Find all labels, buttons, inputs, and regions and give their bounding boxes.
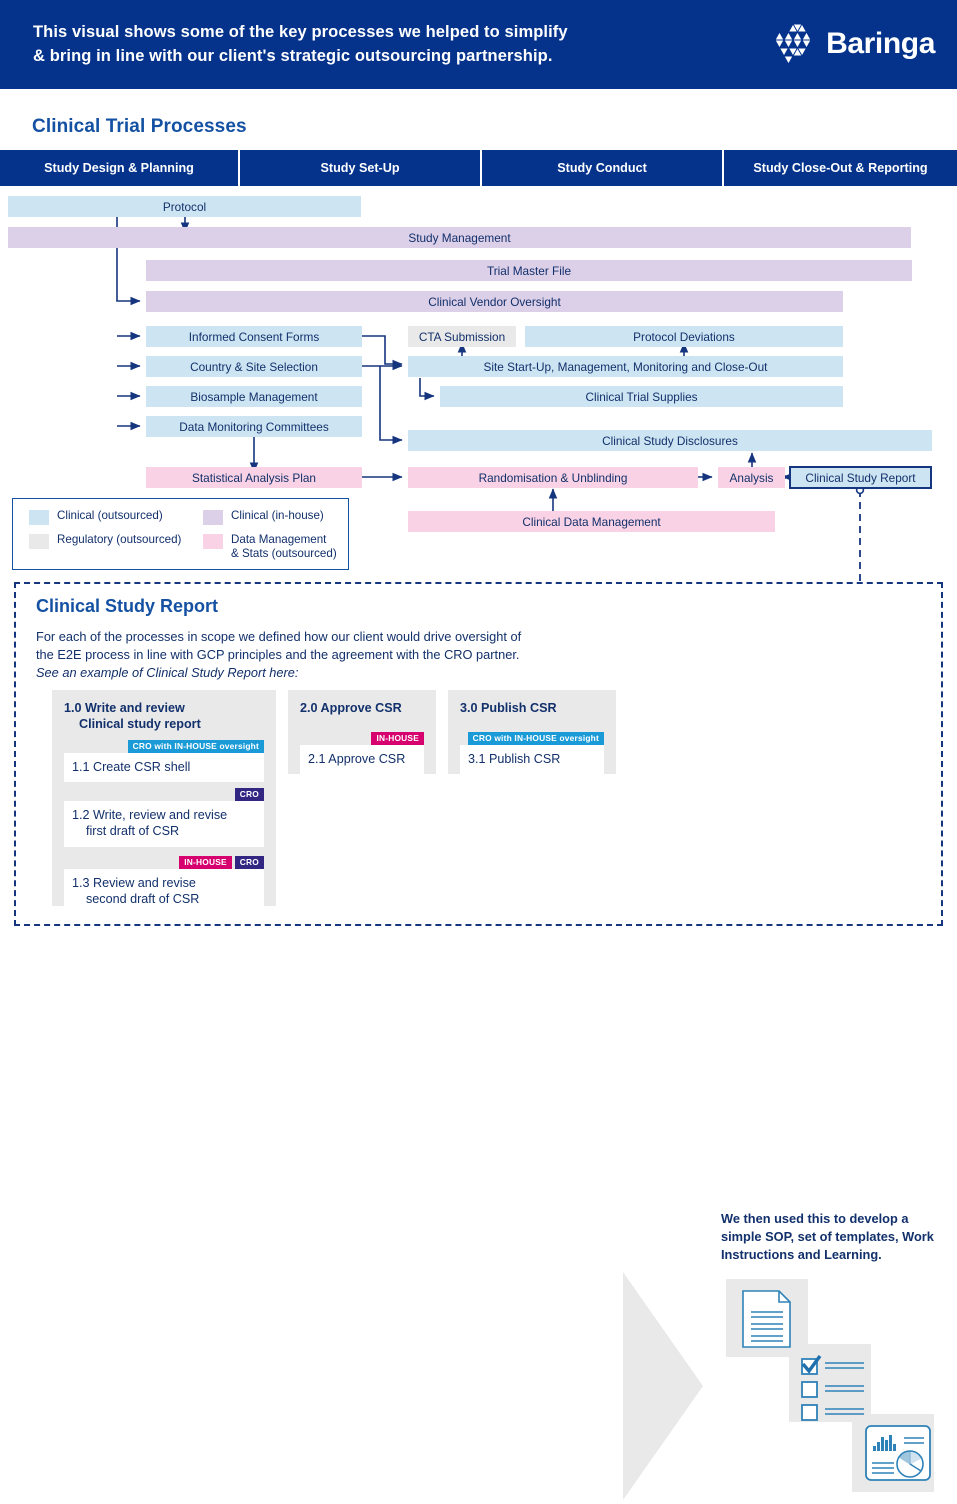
panel-description: For each of the processes in scope we de… <box>36 628 616 682</box>
status-badge: CRO <box>235 788 264 801</box>
card-publish-csr: 3.0 Publish CSRCRO with IN-HOUSE oversig… <box>448 690 616 774</box>
process-bar-label: CTA Submission <box>419 330 505 344</box>
brand-logo: Baringa <box>769 20 935 68</box>
process-bar-trial-master-file[interactable]: Trial Master File <box>146 260 912 281</box>
process-bar-label: Country & Site Selection <box>190 360 318 374</box>
card-approve-csr: 2.0 Approve CSRIN-HOUSE2.1 Approve CSR <box>288 690 436 774</box>
legend: Clinical (outsourced)Clinical (in-house)… <box>12 498 349 570</box>
process-bar-clinical-trial-supplies[interactable]: Clinical Trial Supplies <box>440 386 843 407</box>
banner-headline-line1: This visual shows some of the key proces… <box>33 21 733 45</box>
status-badge: CRO with IN-HOUSE oversight <box>468 732 604 745</box>
process-bar-label: Clinical Study Report <box>805 471 915 485</box>
legend-item: Data Management& Stats (outsourced) <box>203 533 337 562</box>
process-bar-label: Clinical Data Management <box>522 515 660 529</box>
process-bar-label: Clinical Study Disclosures <box>602 434 738 448</box>
report-chart-icon <box>866 1426 930 1480</box>
process-bar-clinical-data-management[interactable]: Clinical Data Management <box>408 511 775 532</box>
process-bar-statistical-analysis-plan[interactable]: Statistical Analysis Plan <box>146 467 362 488</box>
step-text: 3.1 Publish CSR <box>460 745 604 774</box>
process-bar-label: Biosample Management <box>190 390 317 404</box>
panel-title: Clinical Study Report <box>36 596 218 617</box>
legend-label: Clinical (outsourced) <box>57 509 163 523</box>
process-bar-label: Informed Consent Forms <box>189 330 319 344</box>
phase-tabs: Study Design & PlanningStudy Set-UpStudy… <box>0 150 957 186</box>
status-badge: CRO <box>235 856 264 869</box>
panel-description-line3: See an example of Clinical Study Report … <box>36 665 298 680</box>
banner-headline: This visual shows some of the key proces… <box>33 21 733 69</box>
card-step[interactable]: IN-HOUSECRO1.3 Review and revisesecond d… <box>64 856 264 915</box>
page-title: Clinical Trial Processes <box>32 116 247 138</box>
step-badges: IN-HOUSE <box>300 732 424 745</box>
process-bar-randomisation-unblinding[interactable]: Randomisation & Unblinding <box>408 467 698 488</box>
process-bar-protocol[interactable]: Protocol <box>8 196 361 217</box>
card-title: 3.0 Publish CSR <box>460 700 608 716</box>
baringa-pinwheel-icon <box>769 20 817 68</box>
step-badges: CRO <box>64 788 264 801</box>
panel-description-line2: the E2E process in line with GCP princip… <box>36 646 616 664</box>
step-text: 1.3 Review and revisesecond draft of CSR <box>64 869 264 915</box>
process-bar-label: Protocol Deviations <box>633 330 735 344</box>
process-bar-label: Randomisation & Unblinding <box>479 471 628 485</box>
sop-note: We then used this to develop a simple SO… <box>721 1210 946 1264</box>
process-bar-data-monitoring-committees[interactable]: Data Monitoring Committees <box>146 416 362 437</box>
status-badge: CRO with IN-HOUSE oversight <box>128 740 264 753</box>
tab-study-design-planning[interactable]: Study Design & Planning <box>0 150 238 186</box>
step-badges: IN-HOUSECRO <box>64 856 264 869</box>
card-step[interactable]: CRO1.2 Write, review and revisefirst dra… <box>64 788 264 847</box>
tab-divider <box>722 150 724 186</box>
card-title: 1.0 Write and reviewClinical study repor… <box>64 700 268 733</box>
card-step[interactable]: IN-HOUSE2.1 Approve CSR <box>300 732 424 774</box>
step-badges: CRO with IN-HOUSE oversight <box>64 740 264 753</box>
process-bar-study-management[interactable]: Study Management <box>8 227 911 248</box>
legend-swatch-icon <box>29 534 49 549</box>
status-badge: IN-HOUSE <box>179 856 232 869</box>
tab-study-set-up[interactable]: Study Set-Up <box>240 150 480 186</box>
card-title: 2.0 Approve CSR <box>300 700 428 716</box>
process-bar-label: Analysis <box>730 471 774 485</box>
process-bar-cta-submission[interactable]: CTA Submission <box>408 326 516 347</box>
card-step[interactable]: CRO with IN-HOUSE oversight3.1 Publish C… <box>460 732 604 774</box>
legend-swatch-icon <box>203 510 223 525</box>
legend-label: Regulatory (outsourced) <box>57 533 181 547</box>
tab-label: Study Set-Up <box>320 161 399 175</box>
tab-study-conduct[interactable]: Study Conduct <box>482 150 722 186</box>
process-bar-label: Clinical Vendor Oversight <box>428 295 560 309</box>
legend-item: Clinical (outsourced) <box>29 509 163 525</box>
process-bar-label: Protocol <box>163 200 206 214</box>
brand-name: Baringa <box>826 27 935 61</box>
legend-swatch-icon <box>29 510 49 525</box>
document-icon <box>743 1291 790 1347</box>
process-bar-site-start-up[interactable]: Site Start-Up, Management, Monitoring an… <box>408 356 843 377</box>
process-bar-biosample-management[interactable]: Biosample Management <box>146 386 362 407</box>
header-banner: This visual shows some of the key proces… <box>0 0 957 89</box>
step-text: 1.2 Write, review and revisefirst draft … <box>64 801 264 847</box>
step-text: 1.1 Create CSR shell <box>64 753 264 782</box>
tab-divider <box>238 150 240 186</box>
process-bar-analysis[interactable]: Analysis <box>718 467 785 488</box>
tab-label: Study Close-Out & Reporting <box>753 161 927 175</box>
legend-item: Clinical (in-house) <box>203 509 324 525</box>
process-bar-clinical-vendor-oversight[interactable]: Clinical Vendor Oversight <box>146 291 843 312</box>
card-write-review-csr: 1.0 Write and reviewClinical study repor… <box>52 690 276 906</box>
card-step[interactable]: CRO with IN-HOUSE oversight1.1 Create CS… <box>64 740 264 782</box>
legend-item: Regulatory (outsourced) <box>29 533 181 549</box>
step-badges: CRO with IN-HOUSE oversight <box>460 732 604 745</box>
process-bar-clinical-study-disclosures[interactable]: Clinical Study Disclosures <box>408 430 932 451</box>
tab-study-close-out-reporting[interactable]: Study Close-Out & Reporting <box>724 150 957 186</box>
legend-swatch-icon <box>203 534 223 549</box>
process-bar-label: Data Monitoring Committees <box>179 420 328 434</box>
deliverables-illustration <box>716 1274 946 1504</box>
process-bar-country-site-selection[interactable]: Country & Site Selection <box>146 356 362 377</box>
process-bar-informed-consent-forms[interactable]: Informed Consent Forms <box>146 326 362 347</box>
clinical-study-report-panel: Clinical Study Report For each of the pr… <box>14 582 943 926</box>
step-text: 2.1 Approve CSR <box>300 745 424 774</box>
tab-label: Study Design & Planning <box>44 161 194 175</box>
tab-label: Study Conduct <box>557 161 647 175</box>
process-bar-label: Trial Master File <box>487 264 571 278</box>
process-bar-label: Statistical Analysis Plan <box>192 471 316 485</box>
tab-divider <box>480 150 482 186</box>
chevron-right-arrow-icon <box>623 1272 703 1500</box>
process-bar-label: Study Management <box>408 231 510 245</box>
process-bar-clinical-study-report[interactable]: Clinical Study Report <box>789 466 932 489</box>
process-bar-protocol-deviations[interactable]: Protocol Deviations <box>525 326 843 347</box>
process-bar-label: Site Start-Up, Management, Monitoring an… <box>484 360 768 374</box>
legend-label: Clinical (in-house) <box>231 509 324 523</box>
banner-headline-line2: & bring in line with our client's strate… <box>33 45 733 69</box>
process-bar-label: Clinical Trial Supplies <box>585 390 697 404</box>
legend-label: Data Management& Stats (outsourced) <box>231 533 337 562</box>
panel-description-line1: For each of the processes in scope we de… <box>36 628 616 646</box>
status-badge: IN-HOUSE <box>371 732 424 745</box>
